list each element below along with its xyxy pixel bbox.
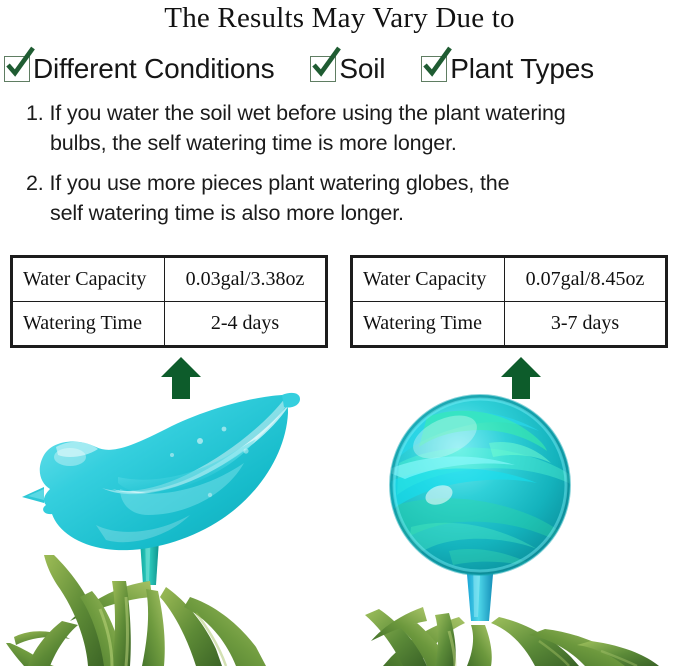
table-cell-label: Watering Time — [13, 302, 165, 346]
note-line-2: self watering time is also more longer. — [26, 198, 666, 228]
checkbox-label: Soil — [339, 55, 385, 83]
checkbox-checked-icon[interactable] — [310, 56, 336, 82]
table-cell-value: 0.03gal/3.38oz — [165, 258, 326, 302]
page-title: The Results May Vary Due to — [0, 2, 679, 35]
checkbox-label: Plant Types — [450, 55, 594, 83]
spec-table-globe-bulb: Water Capacity 0.07gal/8.45oz Watering T… — [350, 255, 668, 348]
checkbox-item-plant-types[interactable]: Plant Types — [421, 55, 594, 83]
checkbox-checked-icon[interactable] — [421, 56, 447, 82]
spec-table-bird-bulb: Water Capacity 0.03gal/3.38oz Watering T… — [10, 255, 328, 348]
table-cell-label: Water Capacity — [13, 258, 165, 302]
checkbox-label: Different Conditions — [33, 55, 274, 83]
table-row: Watering Time 3-7 days — [353, 302, 666, 346]
note-line-1: 2. If you use more pieces plant watering… — [26, 171, 509, 195]
note-line-2: bulbs, the self watering time is more lo… — [26, 128, 666, 158]
table-cell-value: 3-7 days — [505, 302, 666, 346]
bird-shaped-watering-bulb-photo — [0, 385, 340, 666]
checkbox-item-different-conditions[interactable]: Different Conditions — [4, 55, 274, 83]
globe-shaped-watering-bulb-photo — [339, 385, 679, 666]
notes-list: 1. If you water the soil wet before usin… — [26, 98, 666, 228]
list-item: 2. If you use more pieces plant watering… — [26, 168, 666, 228]
table-cell-value: 0.07gal/8.45oz — [505, 258, 666, 302]
list-item: 1. If you water the soil wet before usin… — [26, 98, 666, 158]
table-row: Watering Time 2-4 days — [13, 302, 326, 346]
checkbox-checked-icon[interactable] — [4, 56, 30, 82]
table-row: Water Capacity 0.07gal/8.45oz — [353, 258, 666, 302]
table-cell-value: 2-4 days — [165, 302, 326, 346]
checkbox-item-soil[interactable]: Soil — [310, 55, 385, 83]
table-row: Water Capacity 0.03gal/3.38oz — [13, 258, 326, 302]
conditions-checkbox-row: Different Conditions Soil Plant Types — [0, 47, 679, 91]
table-cell-label: Watering Time — [353, 302, 505, 346]
note-line-1: 1. If you water the soil wet before usin… — [26, 101, 566, 125]
table-cell-label: Water Capacity — [353, 258, 505, 302]
